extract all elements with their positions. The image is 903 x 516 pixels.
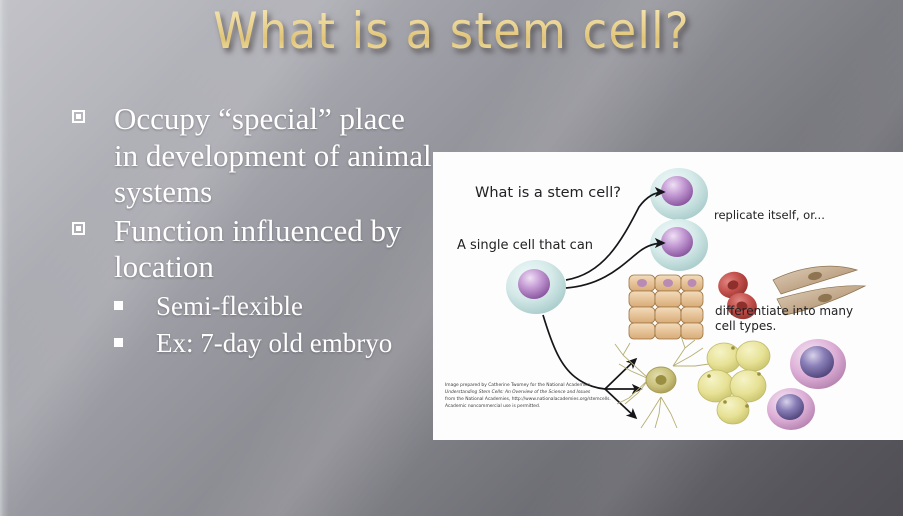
filled-square-bullet-icon <box>114 301 123 310</box>
arrow-differentiate-main <box>543 315 605 389</box>
credit-line-1: Image prepared by Catherine Twomey for t… <box>445 382 695 389</box>
bullet-text: Occupy “special” place in development of… <box>114 101 432 209</box>
square-outline-dot-bullet-icon <box>72 222 85 235</box>
slide-body-content: Occupy “special” place in development of… <box>62 101 434 360</box>
diagram-replicate-label: replicate itself, or... <box>714 208 825 222</box>
arrow-replicate-top <box>566 192 664 280</box>
credit-line-4: Academic noncommercial use is permitted. <box>445 403 695 410</box>
diagram-source-label: A single cell that can <box>457 238 593 253</box>
credit-line-3: from the National Academies, http://www.… <box>445 396 695 403</box>
diagram-differentiate-label: differentiate into many cell types. <box>715 304 855 333</box>
left-edge-highlight <box>0 0 9 516</box>
slide-title: What is a stem cell? <box>0 0 903 64</box>
fat-cells <box>698 341 770 424</box>
central-stem-cell <box>506 260 566 314</box>
immune-cells <box>767 339 846 430</box>
daughter-stem-cell-bottom <box>650 219 708 271</box>
square-outline-dot-bullet-icon <box>72 110 85 123</box>
diagram-question-label: What is a stem cell? <box>475 185 621 201</box>
stem-cell-diagram-image: What is a stem cell? A single cell that … <box>433 152 903 440</box>
sub-bullet-text: Semi-flexible <box>156 291 303 321</box>
sub-bullet-item-embryo: Ex: 7-day old embryo <box>62 327 434 360</box>
daughter-stem-cell-top <box>650 168 708 220</box>
sub-bullet-item-semi-flexible: Semi-flexible <box>62 290 434 323</box>
epithelial-cell-stack <box>629 275 703 339</box>
presentation-slide: What is a stem cell? Occupy “special” pl… <box>0 0 903 516</box>
credit-line-2: Understanding Stem Cells: An Overview of… <box>445 390 590 395</box>
bullet-text: Function influenced by location <box>114 213 402 285</box>
bullet-item-function: Function influenced by location <box>62 213 434 286</box>
bullet-item-occupy: Occupy “special” place in development of… <box>62 101 434 211</box>
diagram-credit-text: Image prepared by Catherine Twomey for t… <box>445 382 695 411</box>
filled-square-bullet-icon <box>114 338 123 347</box>
sub-bullet-text: Ex: 7-day old embryo <box>156 328 392 358</box>
